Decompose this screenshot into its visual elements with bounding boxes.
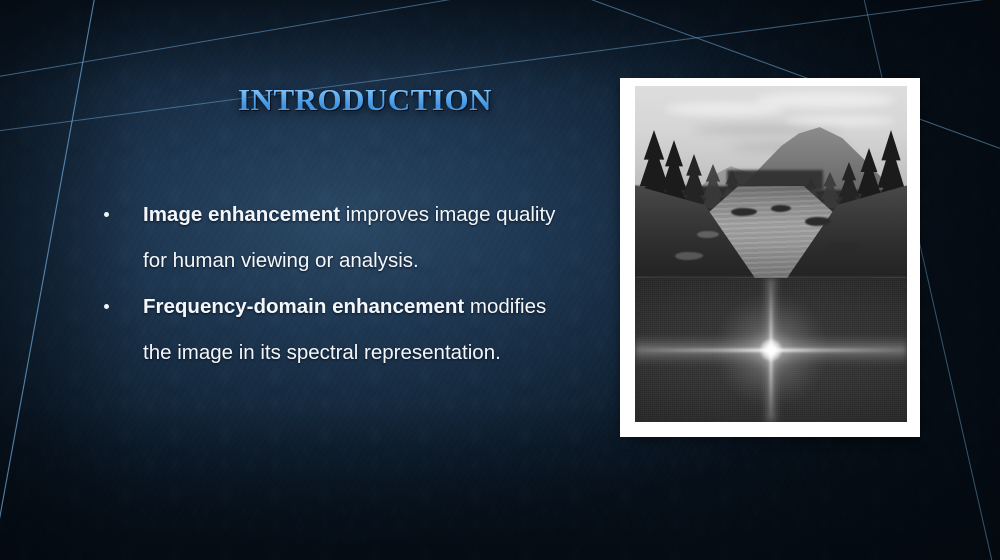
page-title: INTRODUCTION xyxy=(238,84,492,115)
list-item: Frequency-domain enhancement modifies th… xyxy=(96,284,566,376)
spectrum-dc-peak xyxy=(760,339,782,361)
presentation-slide: INTRODUCTION Image enhancement improves … xyxy=(0,0,1000,560)
grayscale-landscape-photo xyxy=(635,86,907,278)
bullet-lead-text: Image enhancement xyxy=(143,203,340,226)
cloud-shape xyxy=(755,92,895,108)
picture-inner xyxy=(635,86,907,422)
bullet-marker-icon xyxy=(104,304,109,309)
picture-frame xyxy=(620,78,920,437)
bullet-marker-icon xyxy=(104,212,109,217)
list-item: Image enhancement improves image quality… xyxy=(96,192,566,284)
bullet-list: Image enhancement improves image quality… xyxy=(96,192,566,376)
cloud-shape xyxy=(785,116,895,126)
fft-magnitude-spectrum xyxy=(635,278,907,422)
bullet-lead-text: Frequency-domain enhancement xyxy=(143,295,464,318)
